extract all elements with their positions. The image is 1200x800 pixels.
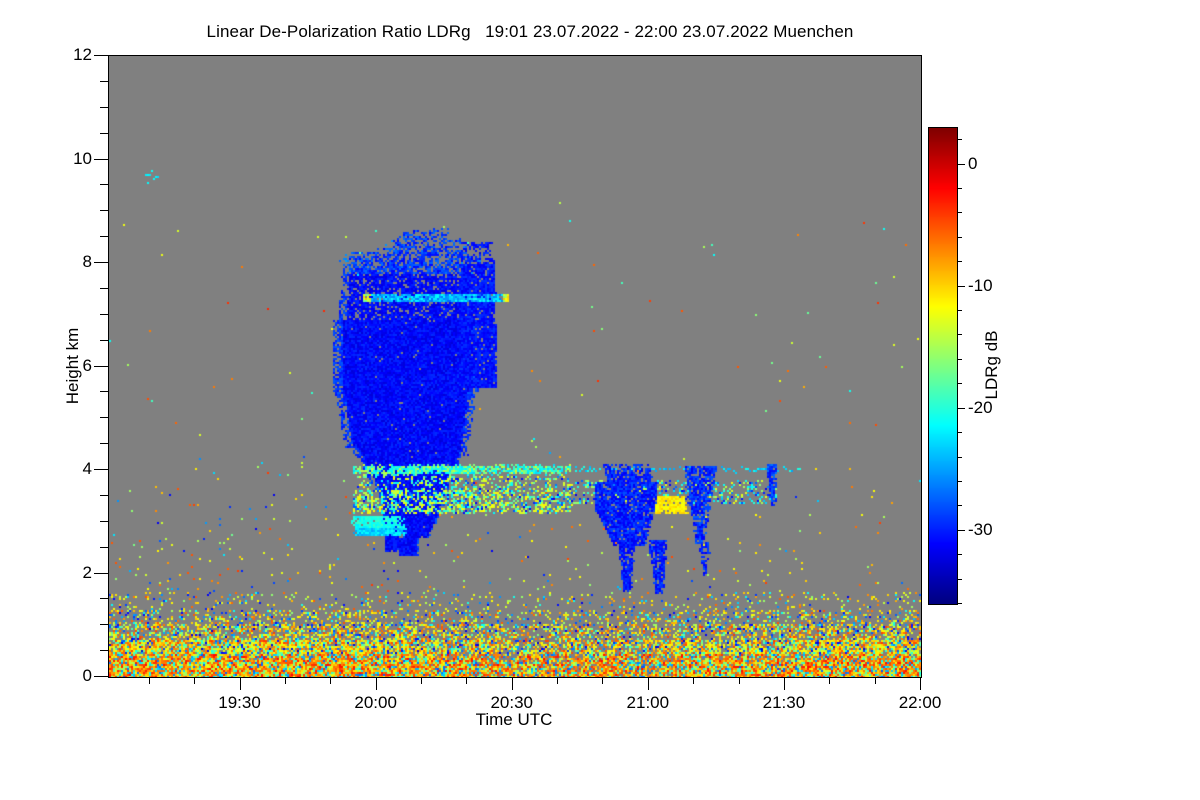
x-axis-minor-tick — [829, 677, 830, 684]
colorbar-minor-tick — [958, 188, 962, 189]
y-axis-minor-tick — [100, 650, 108, 651]
y-axis-minor-tick — [100, 133, 108, 134]
colorbar-minor-tick — [958, 212, 962, 213]
x-axis-tick — [648, 677, 649, 690]
colorbar-tick-label: -30 — [968, 520, 993, 540]
x-axis-minor-tick — [285, 677, 286, 684]
x-axis-minor-tick — [466, 677, 467, 684]
y-axis-minor-tick — [100, 417, 108, 418]
colorbar-gradient — [928, 127, 958, 605]
x-axis-tick — [784, 677, 785, 690]
x-axis-minor-tick — [602, 677, 603, 684]
y-axis-minor-tick — [100, 81, 108, 82]
colorbar-title: LDRg dB — [982, 331, 1002, 400]
y-axis-minor-tick — [100, 314, 108, 315]
y-axis-tick — [94, 469, 108, 470]
x-axis-minor-tick — [875, 677, 876, 684]
x-axis-minor-tick — [194, 677, 195, 684]
x-axis-title: Time UTC — [108, 710, 920, 730]
y-axis-tick — [94, 676, 108, 677]
x-axis-tick — [240, 677, 241, 690]
y-axis-minor-tick — [100, 521, 108, 522]
y-axis-title-holder: Height km — [46, 55, 66, 676]
heatmap-canvas — [109, 56, 921, 677]
y-axis-minor-tick — [100, 624, 108, 625]
x-axis-minor-tick — [557, 677, 558, 684]
colorbar-minor-tick — [958, 237, 962, 238]
y-axis-title: Height km — [63, 276, 83, 456]
plot-area[interactable] — [108, 55, 922, 678]
colorbar-minor-tick — [958, 261, 962, 262]
x-axis-tick — [376, 677, 377, 690]
colorbar-minor-tick — [958, 505, 962, 506]
y-axis-tick — [94, 262, 108, 263]
y-axis-minor-tick — [100, 288, 108, 289]
colorbar-minor-tick — [958, 554, 962, 555]
y-axis-tick — [94, 366, 108, 367]
colorbar-minor-tick — [958, 432, 962, 433]
colorbar-tick — [958, 530, 965, 531]
colorbar-tick — [958, 164, 965, 165]
y-axis-minor-tick — [100, 495, 108, 496]
colorbar-minor-tick — [958, 603, 962, 604]
colorbar-tick-label: -20 — [968, 398, 993, 418]
y-axis-minor-tick — [100, 598, 108, 599]
colorbar-tick — [958, 408, 965, 409]
colorbar[interactable]: 0-10-20-30 — [928, 127, 956, 603]
y-axis-tick — [94, 573, 108, 574]
x-axis-minor-tick — [739, 677, 740, 684]
colorbar-minor-tick — [958, 359, 962, 360]
chart-title: Linear De-Polarization Ratio LDRg 19:01 … — [0, 22, 1060, 42]
x-axis-tick — [512, 677, 513, 690]
colorbar-minor-tick — [958, 457, 962, 458]
y-axis-tick — [94, 159, 108, 160]
x-axis-minor-tick — [421, 677, 422, 684]
figure-root: Linear De-Polarization Ratio LDRg 19:01 … — [0, 0, 1200, 800]
x-axis-minor-tick — [149, 677, 150, 684]
colorbar-tick — [958, 286, 965, 287]
colorbar-minor-tick — [958, 481, 962, 482]
colorbar-tick-label: -10 — [968, 276, 993, 296]
x-axis-minor-tick — [693, 677, 694, 684]
y-axis-minor-tick — [100, 210, 108, 211]
y-axis-minor-tick — [100, 443, 108, 444]
colorbar-minor-tick — [958, 139, 962, 140]
colorbar-tick-label: 0 — [968, 154, 977, 174]
y-axis-minor-tick — [100, 184, 108, 185]
y-axis-minor-tick — [100, 547, 108, 548]
y-axis-minor-tick — [100, 107, 108, 108]
y-axis-minor-tick — [100, 340, 108, 341]
x-axis-minor-tick — [330, 677, 331, 684]
colorbar-minor-tick — [958, 579, 962, 580]
y-axis-minor-tick — [100, 236, 108, 237]
colorbar-minor-tick — [958, 334, 962, 335]
y-axis-minor-tick — [100, 391, 108, 392]
colorbar-minor-tick — [958, 310, 962, 311]
y-axis-tick — [94, 55, 108, 56]
colorbar-minor-tick — [958, 383, 962, 384]
x-axis-tick — [920, 677, 921, 690]
